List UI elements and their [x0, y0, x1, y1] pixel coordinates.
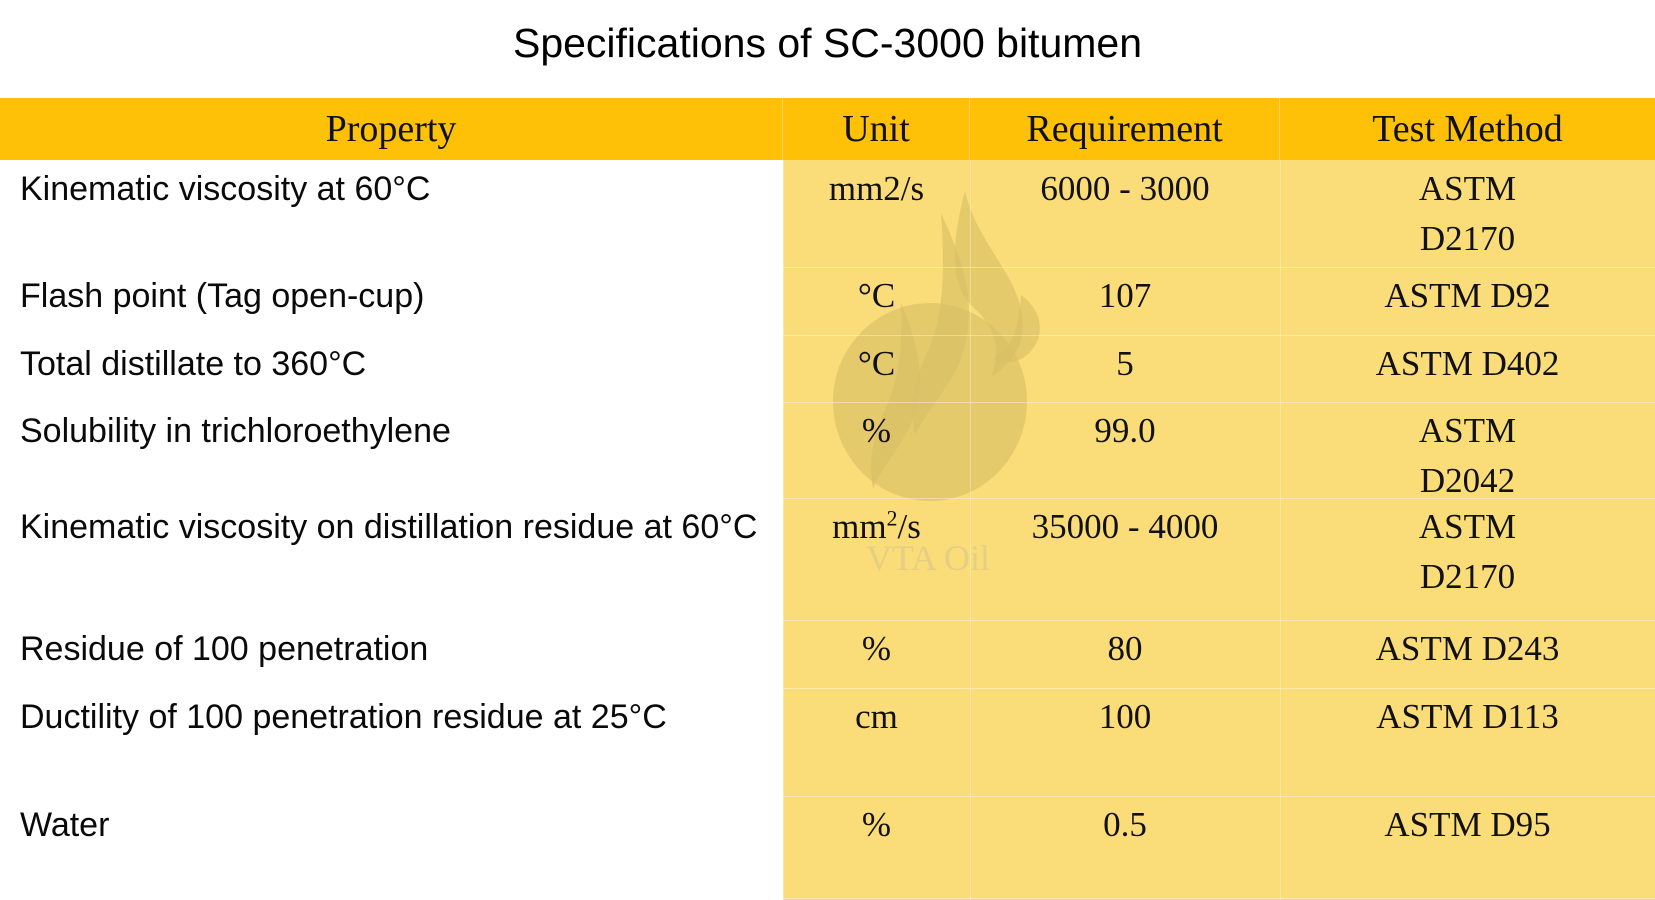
cell-requirement: 0.5	[970, 796, 1280, 898]
cell-property: Ductility of 100 penetration residue at …	[0, 688, 783, 796]
table-row[interactable]: Kinematic viscosity on distillation resi…	[0, 498, 1655, 620]
cell-requirement: 6000 - 3000	[970, 160, 1280, 267]
cell-test-method: ASTMD2042	[1280, 402, 1655, 498]
cell-test-method: ASTM D95	[1280, 796, 1655, 898]
table-row[interactable]: Ductility of 100 penetration residue at …	[0, 688, 1655, 796]
column-header-test-method: Test Method	[1280, 98, 1655, 160]
page-title: Specifications of SC-3000 bitumen	[0, 17, 1655, 69]
cell-test-method: ASTM D402	[1280, 335, 1655, 402]
cell-test-method: ASTMD2170	[1280, 160, 1655, 267]
cell-requirement: 80	[970, 620, 1280, 688]
cell-requirement: 35000 - 4000	[970, 498, 1280, 620]
cell-unit: °C	[783, 335, 970, 402]
cell-unit: °C	[783, 267, 970, 335]
table-row[interactable]: Flash point (Tag open-cup) °C 107 ASTM D…	[0, 267, 1655, 335]
cell-requirement: 100	[970, 688, 1280, 796]
table-body: VTA Oil Kinematic viscosity at 60°C mm2/…	[0, 160, 1655, 900]
cell-test-method: ASTM D113	[1280, 688, 1655, 796]
cell-requirement: 107	[970, 267, 1280, 335]
column-header-requirement: Requirement	[970, 98, 1280, 160]
table-row[interactable]: Residue of 100 penetration % 80 ASTM D24…	[0, 620, 1655, 688]
cell-unit: %	[783, 402, 970, 498]
cell-property: Total distillate to 360°C	[0, 335, 783, 402]
cell-unit: %	[783, 620, 970, 688]
cell-property: Kinematic viscosity on distillation resi…	[0, 498, 783, 620]
table-row[interactable]: Kinematic viscosity at 60°C mm2/s 6000 -…	[0, 160, 1655, 267]
cell-test-method: ASTMD2170	[1280, 498, 1655, 620]
slide-page: Specifications of SC-3000 bitumen Proper…	[0, 0, 1655, 900]
cell-property: Solubility in trichloroethylene	[0, 402, 783, 498]
table-row[interactable]: Solubility in trichloroethylene % 99.0 A…	[0, 402, 1655, 498]
cell-requirement: 99.0	[970, 402, 1280, 498]
cell-test-method: ASTM D243	[1280, 620, 1655, 688]
column-header-unit: Unit	[783, 98, 970, 160]
cell-property: Residue of 100 penetration	[0, 620, 783, 688]
cell-property: Kinematic viscosity at 60°C	[0, 160, 783, 267]
cell-test-method: ASTM D92	[1280, 267, 1655, 335]
table-header-row: Property Unit Requirement Test Method	[0, 98, 1655, 160]
cell-unit: cm	[783, 688, 970, 796]
column-header-property: Property	[0, 98, 783, 160]
cell-requirement: 5	[970, 335, 1280, 402]
cell-property: Water	[0, 796, 783, 898]
specifications-table: Property Unit Requirement Test Method	[0, 98, 1655, 900]
cell-unit: mm2/s	[783, 160, 970, 267]
cell-property: Flash point (Tag open-cup)	[0, 267, 783, 335]
table-row[interactable]: Water % 0.5 ASTM D95	[0, 796, 1655, 898]
table-row[interactable]: Total distillate to 360°C °C 5 ASTM D402	[0, 335, 1655, 402]
cell-unit: mm2/s	[783, 498, 970, 620]
cell-unit: %	[783, 796, 970, 898]
